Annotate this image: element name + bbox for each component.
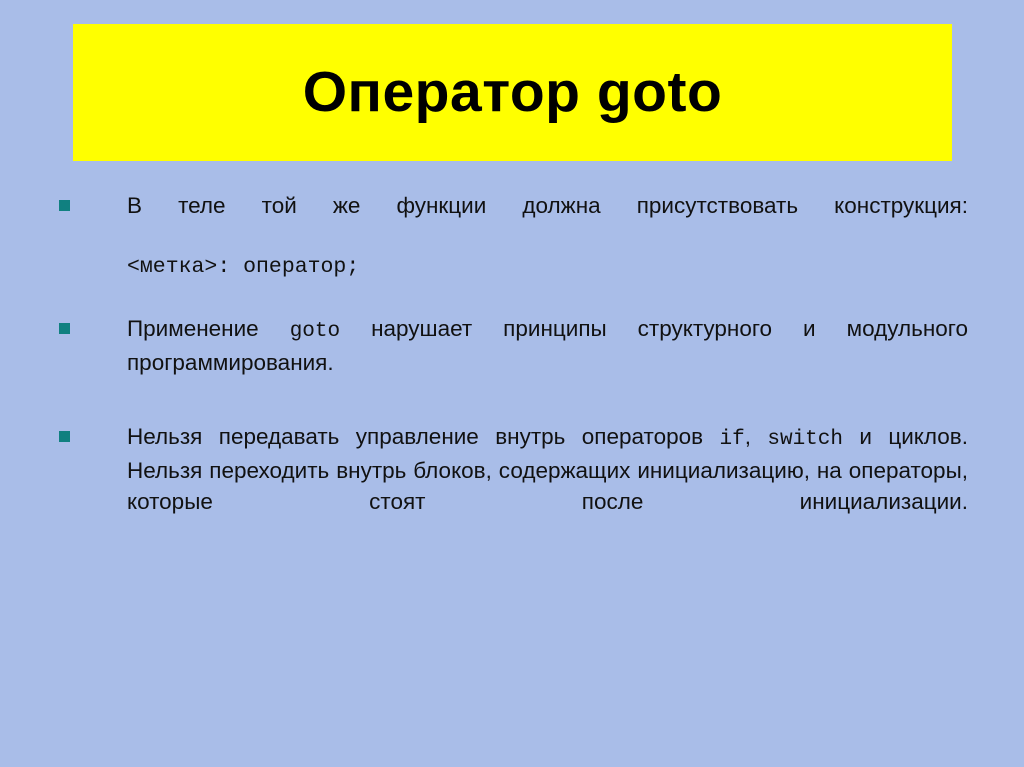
inline-code-if: if (719, 428, 744, 451)
presentation-slide: Оператор goto В теле той же функции долж… (0, 0, 1024, 767)
inline-code-switch: switch (767, 428, 843, 451)
bullet-item-label-construct: В теле той же функции должна присутствов… (0, 190, 1024, 283)
bullet-code-label-syntax: <метка>: оператор; (127, 252, 968, 283)
bullet-square-icon (59, 323, 70, 334)
slide-title-banner: Оператор goto (73, 24, 952, 161)
bullet-item-goto-violates: Применение goto нарушает принципы структ… (0, 313, 1024, 409)
bullet-lead-text: В теле той же функции должна присутствов… (127, 193, 968, 218)
inline-code-goto: goto (290, 320, 340, 343)
bullet-text-goto-violates: Применение goto нарушает принципы структ… (127, 313, 968, 409)
bullet-item-jump-restrictions: Нельзя передавать управление внутрь опер… (0, 421, 1024, 548)
slide-title: Оператор goto (303, 63, 723, 123)
bullet-text-part-1: Применение (127, 316, 290, 341)
bullet-text-part-1: Нельзя передавать управление внутрь опер… (127, 424, 719, 449)
bullet-square-icon (59, 200, 70, 211)
slide-body-bullet-list: В теле той же функции должна присутствов… (0, 190, 1024, 548)
bullet-text-jump-restrictions: Нельзя передавать управление внутрь опер… (127, 421, 968, 548)
bullet-text-part-2: , (745, 424, 768, 449)
bullet-text-label-construct: В теле той же функции должна присутствов… (127, 190, 968, 252)
bullet-square-icon (59, 431, 70, 442)
